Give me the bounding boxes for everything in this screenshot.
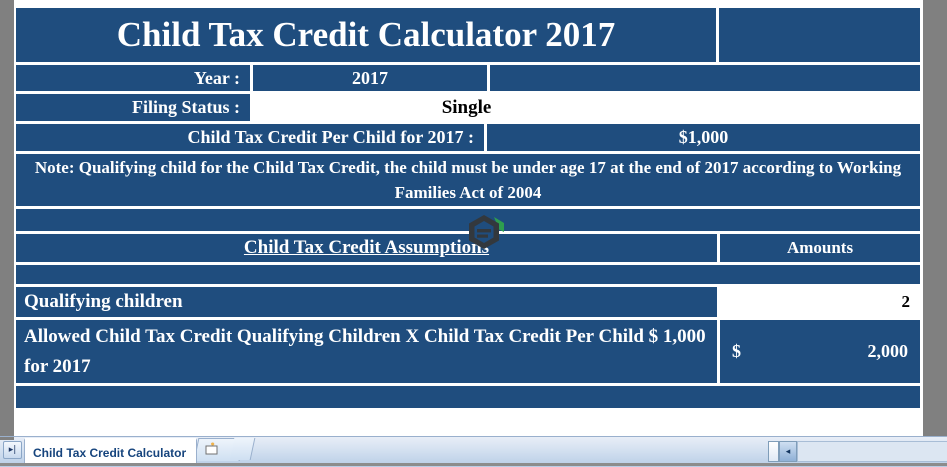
horizontal-scrollbar[interactable]	[797, 441, 947, 462]
worksheet-page: Child Tax Credit Calculator 2017 Year : …	[14, 0, 923, 436]
year-label: Year :	[16, 65, 250, 91]
spacer-cell-1	[16, 209, 920, 231]
worksheet-grid: Child Tax Credit Calculator 2017 Year : …	[16, 8, 920, 411]
year-row: Year : 2017	[16, 65, 920, 91]
note-text: Note: Qualifying child for the Child Tax…	[16, 154, 920, 206]
allowed-credit-amount: 2,000	[868, 341, 909, 362]
table-row: Allowed Child Tax Credit Qualifying Chil…	[16, 320, 920, 383]
assumptions-header-label: Child Tax Credit Assumptions	[16, 234, 717, 262]
table-row: Qualifying children 2	[16, 287, 920, 317]
spacer-row-2	[16, 265, 920, 284]
currency-symbol: $	[732, 341, 741, 362]
scroll-left-icon[interactable]: ◂	[779, 441, 797, 462]
last-sheet-nav-icon[interactable]: ▸|	[3, 441, 22, 459]
title-row: Child Tax Credit Calculator 2017	[16, 8, 920, 62]
filing-status-label: Filing Status :	[16, 94, 250, 121]
filing-status-row: Filing Status : Single	[16, 94, 920, 121]
title-row-filler-cell	[719, 8, 920, 62]
spacer-row-1	[16, 209, 920, 231]
allowed-credit-label: Allowed Child Tax Credit Qualifying Chil…	[16, 320, 717, 383]
sheet-tab-child-tax-credit-calculator[interactable]: Child Tax Credit Calculator	[24, 438, 197, 464]
window-frame-left	[0, 0, 14, 436]
assumptions-header-row: Child Tax Credit Assumptions Amounts	[16, 234, 920, 262]
excel-worksheet-window: Child Tax Credit Calculator 2017 Year : …	[0, 0, 947, 466]
allowed-credit-value-cell[interactable]: $ 2,000	[720, 320, 920, 383]
filing-status-value-cell[interactable]: Single	[253, 94, 920, 121]
pane-split-handle[interactable]	[768, 441, 779, 462]
credit-per-child-value-cell[interactable]: $1,000	[487, 124, 920, 151]
credit-per-child-label: Child Tax Credit Per Child for 2017 :	[16, 124, 484, 151]
insert-worksheet-icon[interactable]	[204, 442, 220, 456]
amounts-header-label: Amounts	[720, 234, 920, 262]
qualifying-children-value[interactable]: 2	[720, 287, 920, 317]
year-value-cell[interactable]: 2017	[253, 65, 487, 91]
qualifying-children-label: Qualifying children	[16, 287, 717, 317]
page-title: Child Tax Credit Calculator 2017	[16, 8, 716, 62]
sheet-tab-strip-tail	[230, 438, 256, 460]
spacer-row-3	[16, 386, 920, 408]
credit-per-child-row: Child Tax Credit Per Child for 2017 : $1…	[16, 124, 920, 151]
spacer-cell-2	[16, 265, 920, 284]
note-row: Note: Qualifying child for the Child Tax…	[16, 154, 920, 206]
tabbar-corner	[0, 437, 14, 440]
window-frame-right	[923, 0, 947, 436]
spacer-cell-3	[16, 386, 920, 408]
year-row-filler-cell	[490, 65, 920, 91]
